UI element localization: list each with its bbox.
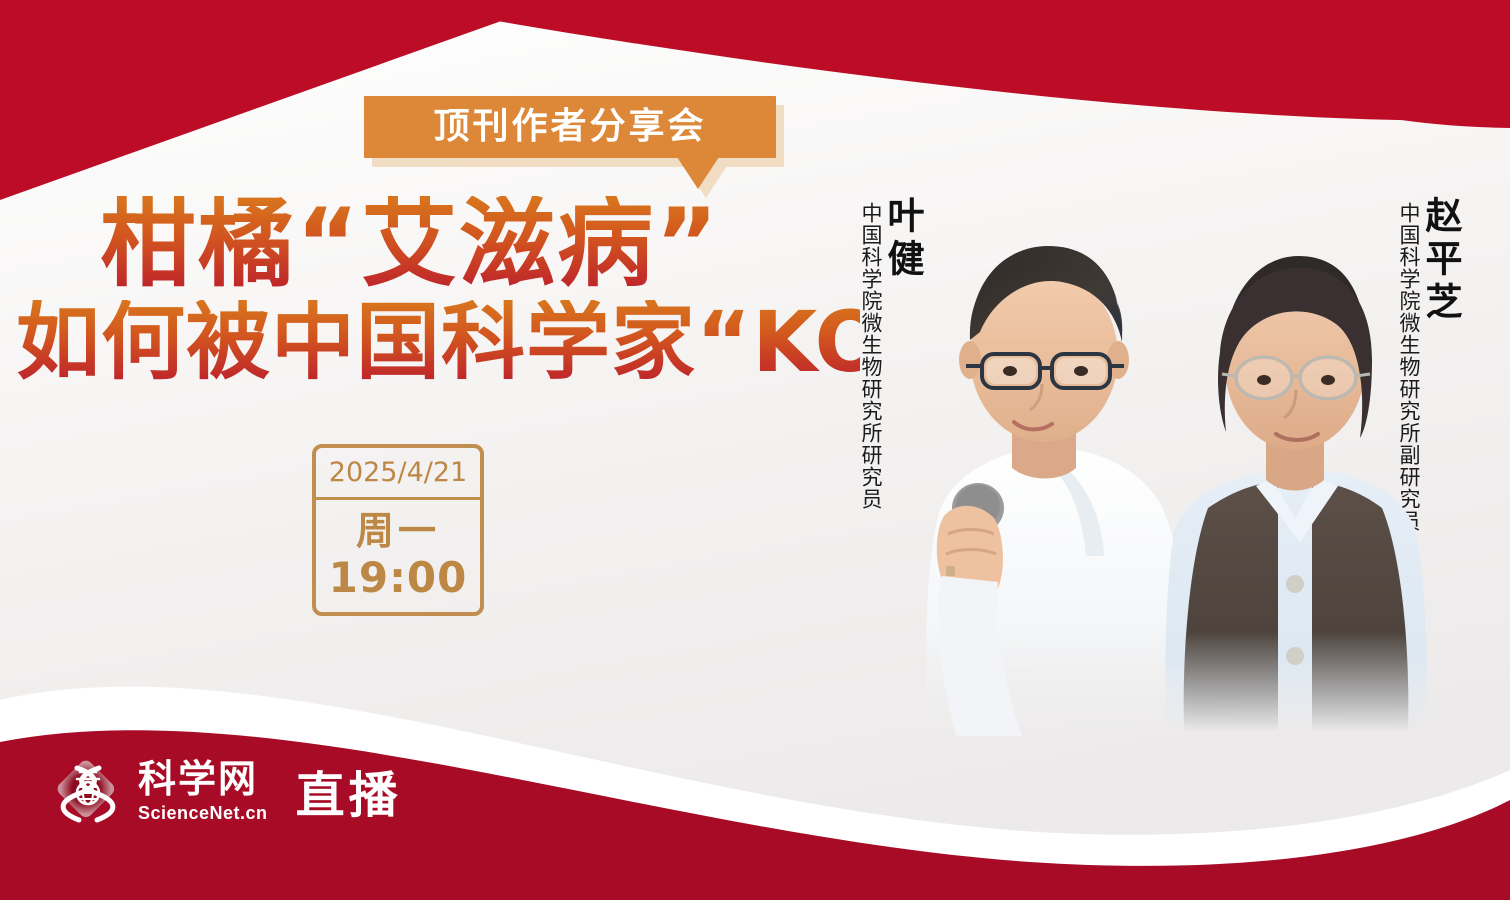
- speaker-2-photo: [1160, 232, 1430, 762]
- title-line-1: 柑橘“艾滋病”: [0, 196, 860, 294]
- event-time: 19:00: [329, 555, 468, 601]
- logo-mark-svg: [52, 752, 124, 830]
- speaker-1-title: 中国科学院微生物研究所研究员: [860, 202, 882, 510]
- event-ribbon: 顶刊作者分享会: [364, 96, 776, 158]
- poster-root: 顶刊作者分享会 柑橘“艾滋病” 如何被中国科学家“KO”？ 2025/4/21 …: [0, 0, 1510, 900]
- brand-name-cn: 科学网: [138, 760, 268, 798]
- date-row: 2025/4/21: [316, 448, 480, 500]
- event-weekday: 周一: [356, 511, 440, 553]
- event-date: 2025/4/21: [329, 457, 467, 488]
- page-title: 柑橘“艾滋病” 如何被中国科学家“KO”？: [0, 196, 860, 386]
- brand-name-en: ScienceNet.cn: [138, 804, 268, 822]
- ribbon-body: 顶刊作者分享会: [364, 96, 776, 158]
- speaker-2-portrait-svg: [1160, 232, 1430, 762]
- event-date-card: 2025/4/21 周一 19:00: [312, 444, 484, 616]
- ribbon-label: 顶刊作者分享会: [433, 109, 706, 145]
- title-line-2: 如何被中国科学家“KO”？: [0, 300, 860, 386]
- ribbon-tail-icon: [677, 157, 719, 189]
- live-label: 直播: [296, 756, 402, 827]
- dna-globe-diamond-icon: [52, 752, 124, 830]
- time-row: 周一 19:00: [316, 500, 480, 612]
- brand-logo: 科学网 ScienceNet.cn 直播: [52, 752, 402, 830]
- brand-text: 科学网 ScienceNet.cn: [138, 760, 268, 822]
